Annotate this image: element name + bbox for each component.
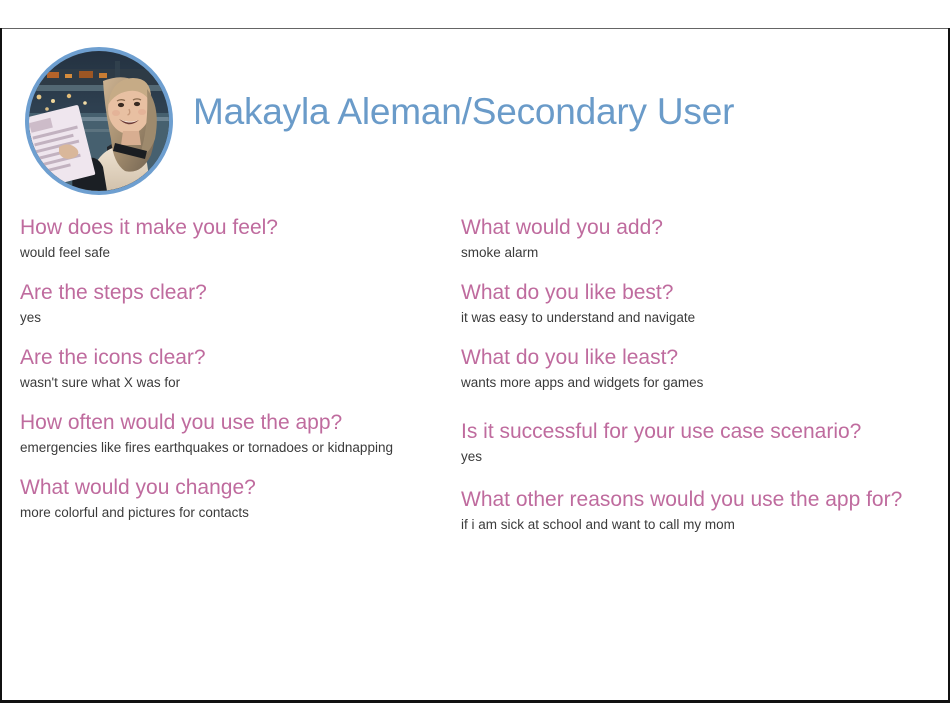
question-label: What would you change? <box>20 474 450 502</box>
qa-item: What would you add? smoke alarm <box>461 214 950 262</box>
qa-item: What do you like best? it was easy to un… <box>461 279 950 327</box>
question-label: What other reasons would you use the app… <box>461 486 950 514</box>
answer-text: yes <box>20 308 450 327</box>
answer-text: yes <box>461 447 950 466</box>
question-label: Are the icons clear? <box>20 344 450 372</box>
answer-text: smoke alarm <box>461 243 950 262</box>
question-label: What would you add? <box>461 214 950 242</box>
avatar-photo <box>29 51 169 191</box>
qa-item: Are the icons clear? wasn't sure what X … <box>20 344 450 392</box>
question-label: Are the steps clear? <box>20 279 450 307</box>
qa-item: How does it make you feel? would feel sa… <box>20 214 450 262</box>
avatar <box>25 47 173 195</box>
question-label: Is it successful for your use case scena… <box>461 418 950 446</box>
question-label: What do you like best? <box>461 279 950 307</box>
qa-column-left: How does it make you feel? would feel sa… <box>20 214 450 539</box>
slide-border-bottom <box>0 700 950 703</box>
page-title: Makayla Aleman/Secondary User <box>193 90 734 134</box>
answer-text: would feel safe <box>20 243 450 262</box>
slide-canvas: Makayla Aleman/Secondary User How does i… <box>0 0 950 706</box>
qa-item: What would you change? more colorful and… <box>20 474 450 522</box>
answer-text: emergencies like fires earthquakes or to… <box>20 438 450 457</box>
qa-item: How often would you use the app? emergen… <box>20 409 450 457</box>
question-label: How does it make you feel? <box>20 214 450 242</box>
answer-text: wasn't sure what X was for <box>20 373 450 392</box>
slide-border-top <box>0 28 950 29</box>
qa-item: What other reasons would you use the app… <box>461 486 950 534</box>
answer-text: wants more apps and widgets for games <box>461 373 950 392</box>
question-label: How often would you use the app? <box>20 409 450 437</box>
slide-header: Makayla Aleman/Secondary User <box>0 40 950 205</box>
answer-text: if i am sick at school and want to call … <box>461 515 950 534</box>
qa-item: Is it successful for your use case scena… <box>461 418 950 466</box>
answer-text: more colorful and pictures for contacts <box>20 503 450 522</box>
question-label: What do you like least? <box>461 344 950 372</box>
answer-text: it was easy to understand and navigate <box>461 308 950 327</box>
qa-item: Are the steps clear? yes <box>20 279 450 327</box>
qa-item: What do you like least? wants more apps … <box>461 344 950 392</box>
qa-column-right: What would you add? smoke alarm What do … <box>461 214 950 551</box>
